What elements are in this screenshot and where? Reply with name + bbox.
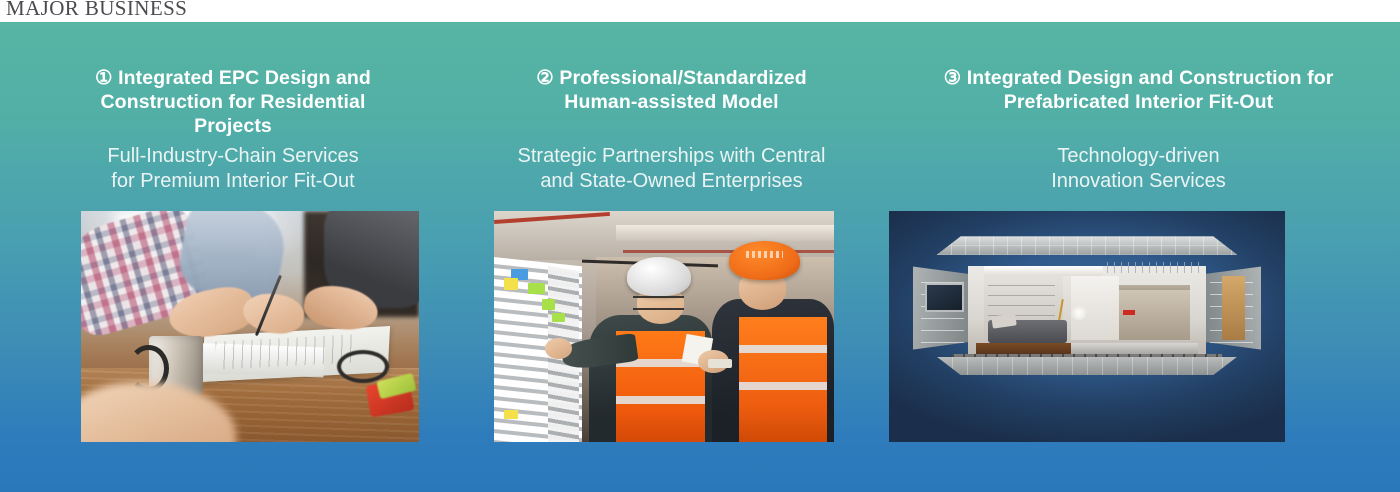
column-2-subheading-line-1: Strategic Partnerships with Central (502, 144, 842, 169)
ceiling-truss-grid (1107, 262, 1202, 274)
column-1-heading: ① Integrated EPC Design and Construction… (83, 66, 383, 138)
eyeglasses (337, 350, 389, 383)
yellow-tag (504, 278, 518, 290)
wristwatch (708, 359, 732, 368)
column-1-subheading: Full-Industry-Chain Services for Premium… (68, 144, 398, 194)
column-2-heading-text: Professional/Standardized Human-assisted… (559, 67, 806, 113)
gradient-panel: ① Integrated EPC Design and Construction… (0, 22, 1400, 492)
column-1-marker: ① (95, 67, 113, 89)
column-3-marker: ③ (944, 67, 962, 89)
green-tag-2 (542, 299, 556, 311)
ceiling-light-strip (984, 266, 1103, 275)
white-hardhat (627, 257, 692, 296)
column-3-heading: ③ Integrated Design and Construction for… (939, 66, 1339, 114)
vest-2-stripe-2 (739, 382, 827, 390)
column-3-subheading-line-2: Innovation Services (969, 169, 1309, 194)
kitchen-cabinet (1119, 290, 1190, 341)
slide-root: MAJOR BUSINESS ① Integrated EPC Design a… (0, 0, 1400, 492)
hardhat-label (746, 251, 783, 257)
column-1-subheading-line-1: Full-Industry-Chain Services (68, 144, 398, 169)
vest-2-stripe-1 (739, 345, 827, 353)
yellow-tag-2 (504, 410, 518, 419)
worker-2-hivis-vest (739, 317, 827, 442)
floor-grid-detail (937, 357, 1238, 375)
red-accent-detail (1123, 310, 1135, 315)
ceiling-grid-detail (937, 236, 1238, 254)
worker-1-glasses (633, 296, 684, 309)
green-tag-3 (552, 313, 566, 322)
column-3-photo (889, 211, 1285, 442)
green-tag-1 (528, 283, 545, 295)
vest-1-stripe-2 (616, 396, 704, 404)
window-panel (925, 283, 965, 312)
column-3-heading-text: Integrated Design and Construction for P… (967, 67, 1334, 113)
worker-1-hand (545, 338, 572, 359)
column-3-subheading-line-1: Technology-driven (969, 144, 1309, 169)
red-pipe-right (623, 250, 834, 253)
column-2-photo (494, 211, 834, 442)
column-1-subheading-line-2: for Premium Interior Fit-Out (68, 169, 398, 194)
column-1-photo (81, 211, 419, 442)
top-white-strip (0, 0, 1400, 22)
column-2-subheading-line-2: and State-Owned Enterprises (502, 169, 842, 194)
column-2-heading: ② Professional/Standardized Human-assist… (512, 66, 832, 114)
column-2-marker: ② (536, 67, 554, 89)
floor-lamp-globe (1071, 306, 1087, 320)
column-2-subheading: Strategic Partnerships with Central and … (502, 144, 842, 194)
ceiling-beam (616, 225, 834, 241)
orange-hardhat (729, 241, 800, 280)
wooden-door-panel (1222, 276, 1246, 341)
page-title: MAJOR BUSINESS (6, 0, 187, 21)
column-3-subheading: Technology-driven Innovation Services (969, 144, 1309, 194)
tile-floor-section (1071, 343, 1198, 355)
column-1-heading-text: Integrated EPC Design and Construction f… (101, 67, 371, 137)
